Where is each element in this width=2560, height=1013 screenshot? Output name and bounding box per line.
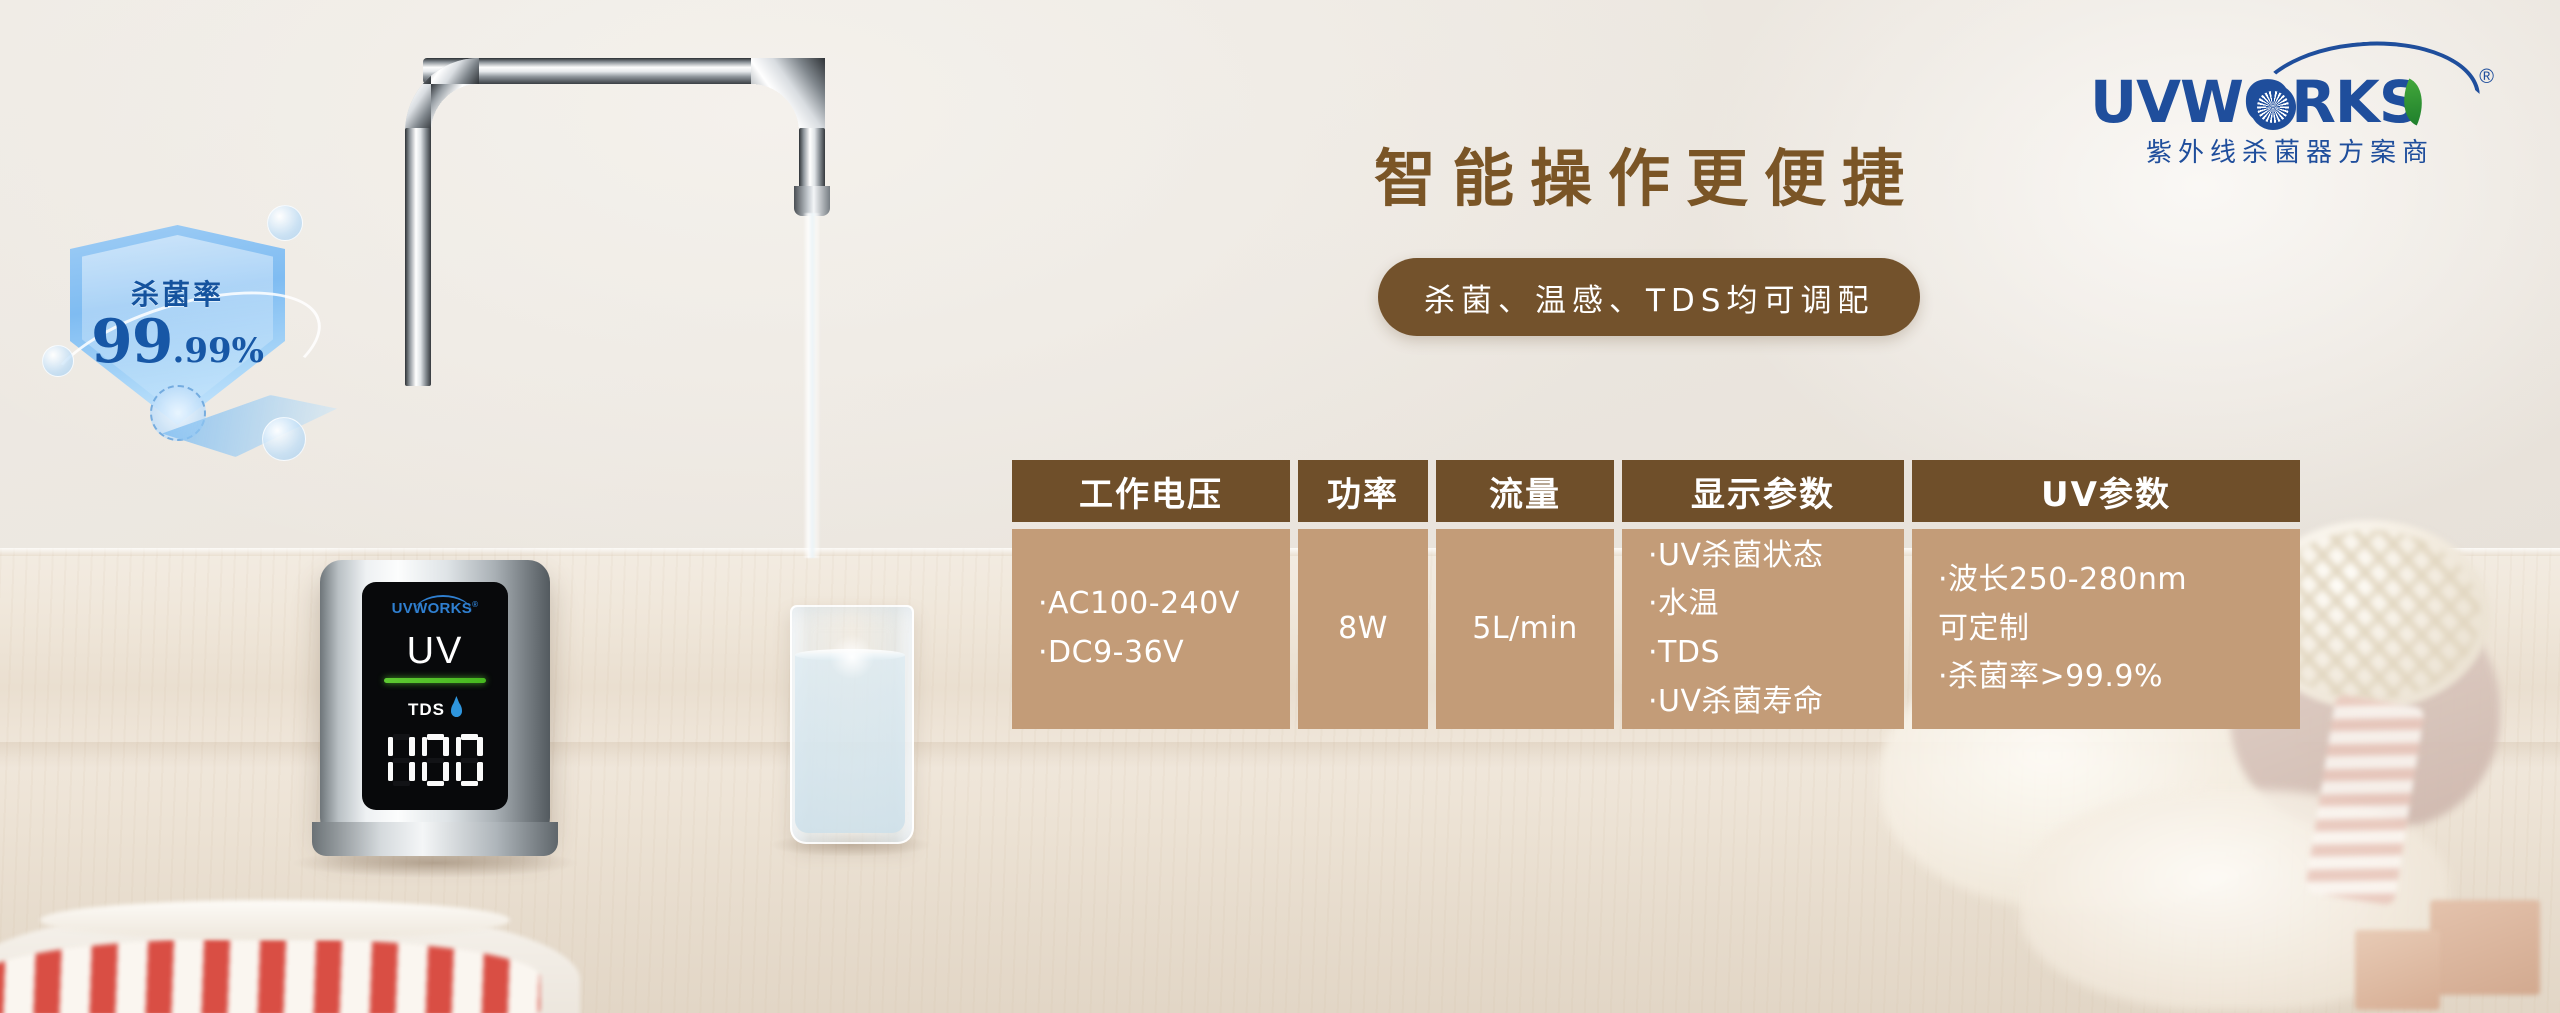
spec-table: 工作电压 功率 流量 显示参数 UV参数 ·AC100-240V ·DC9-36…	[1012, 460, 2312, 729]
spec-line: ·UV杀菌寿命	[1648, 678, 1824, 727]
bubble-icon	[262, 417, 306, 461]
faucet-leg-left	[405, 128, 431, 386]
spec-header-display: 显示参数	[1622, 460, 1904, 522]
spec-cell-uv: ·波长250-280nm 可定制 ·杀菌率>99.9%	[1912, 529, 2300, 729]
screen-brand-text: UVWORKS	[392, 600, 472, 617]
device-screen: UVWORKS® UV TDS	[362, 582, 508, 810]
faucet-corner-left	[405, 58, 479, 132]
registered-icon: ®	[2479, 66, 2494, 89]
spec-cell-flow: 5L/min	[1436, 529, 1614, 729]
spec-table-row: ·AC100-240V ·DC9-36V 8W 5L/min ·UV杀菌状态 ·…	[1012, 529, 2312, 729]
uv-sterilizer-device: UVWORKS® UV TDS	[320, 560, 550, 860]
wood-block	[2430, 900, 2540, 995]
water-drop-icon	[451, 702, 462, 717]
spec-line: ·AC100-240V	[1038, 580, 1240, 629]
brand-logo: UVWORKS ® 紫外线杀菌器方案商	[2090, 40, 2490, 160]
spec-line: ·TDS	[1648, 629, 1720, 678]
seg-digit	[388, 734, 415, 786]
spec-header-power: 功率	[1298, 460, 1428, 522]
wood-block-small	[2355, 930, 2440, 1010]
faucet-leg-right	[799, 128, 825, 190]
brand-tagline: 紫外线杀菌器方案商	[2090, 132, 2490, 169]
bubble-icon	[267, 205, 303, 241]
faucet-corner-right	[751, 58, 825, 132]
badge-value: 99.99%	[70, 307, 285, 377]
spec-line: 8W	[1338, 605, 1388, 654]
feature-pill: 杀菌、温感、TDS均可调配	[1378, 258, 1920, 336]
glass-water	[795, 653, 905, 833]
seg-digit	[422, 734, 449, 786]
spec-cell-voltage: ·AC100-240V ·DC9-36V	[1012, 529, 1290, 729]
spec-line: ·UV杀菌状态	[1648, 532, 1824, 581]
sterilization-rate-badge: 杀菌率 99.99%	[30, 195, 330, 465]
page-title: 智能操作更便捷	[1374, 128, 1920, 218]
spec-line: 可定制	[1938, 605, 2030, 654]
spec-line: ·水温	[1648, 580, 1719, 629]
water-glass	[790, 605, 910, 850]
screen-tds-label: TDS	[408, 700, 445, 719]
screen-mode-label: UV	[362, 630, 508, 673]
device-base	[312, 822, 558, 856]
plate-stripes	[0, 938, 540, 1013]
spec-header-voltage: 工作电压	[1012, 460, 1290, 522]
spec-cell-display: ·UV杀菌状态 ·水温 ·TDS ·UV杀菌寿命	[1622, 529, 1904, 729]
screen-tds-value	[384, 734, 486, 786]
screen-status-bar	[384, 678, 486, 683]
water-stream	[803, 213, 821, 558]
badge-value-minor: .99%	[173, 331, 264, 371]
uv-sunburst-icon	[2250, 84, 2296, 130]
spec-line: 5L/min	[1472, 605, 1577, 654]
seg-digit	[456, 734, 483, 786]
plate-rim	[40, 900, 510, 940]
screen-brand-registered: ®	[472, 600, 478, 609]
glass-splash	[830, 635, 874, 679]
spec-table-header-row: 工作电压 功率 流量 显示参数 UV参数	[1012, 460, 2312, 522]
spec-header-uv: UV参数	[1912, 460, 2300, 522]
spec-header-flow: 流量	[1436, 460, 1614, 522]
spec-line: ·杀菌率>99.9%	[1938, 653, 2163, 702]
faucet-arm	[423, 58, 801, 84]
spec-line: ·波长250-280nm	[1938, 556, 2187, 605]
faucet-spout	[794, 186, 830, 216]
spec-line: ·DC9-36V	[1038, 629, 1184, 678]
screen-brand-logo: UVWORKS®	[362, 600, 508, 617]
badge-value-major: 99	[91, 307, 173, 377]
screen-tds-row: TDS	[362, 700, 508, 720]
product-banner: UVWORKS® UV TDS 杀菌率 99.99% 智能操作更便	[0, 0, 2560, 1013]
feature-pill-label: 杀菌、温感、TDS均可调配	[1424, 275, 1874, 320]
spec-cell-power: 8W	[1298, 529, 1428, 729]
